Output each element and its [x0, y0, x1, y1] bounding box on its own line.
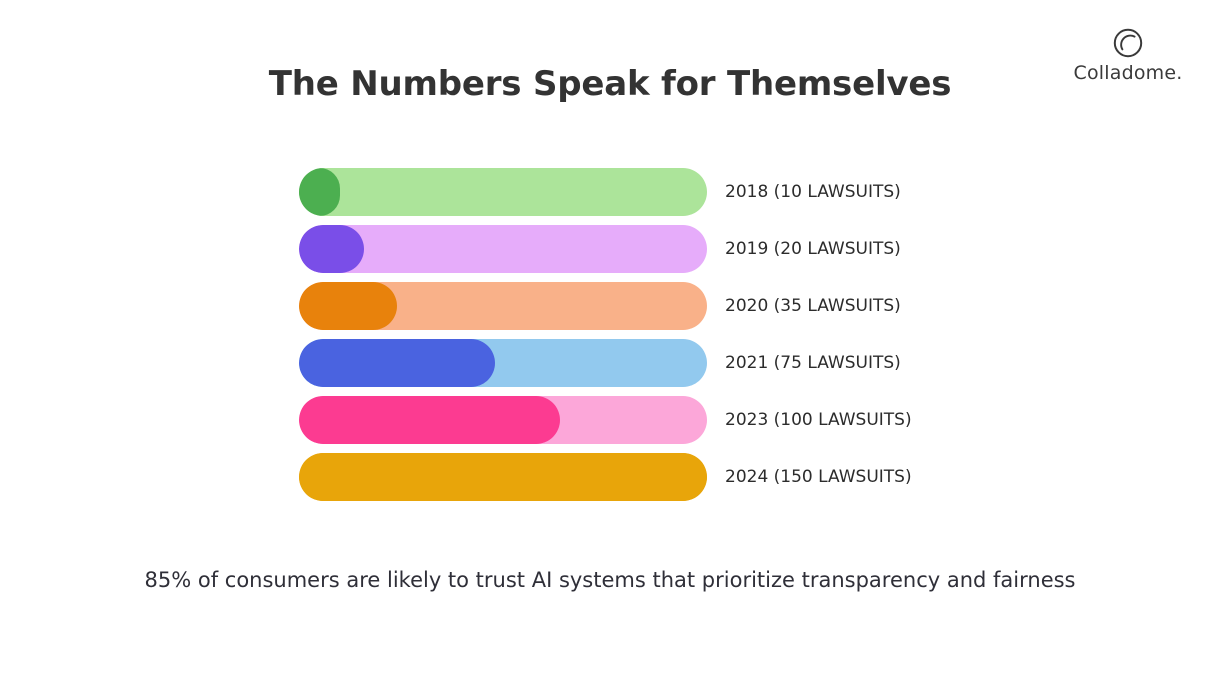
bar-track-2020 — [299, 282, 707, 330]
bar-label-2021: 2021 (75 LAWSUITS) — [725, 353, 901, 373]
chart-caption: 85% of consumers are likely to trust AI … — [0, 568, 1220, 592]
bar-track-2019 — [299, 225, 707, 273]
bar-track-2021 — [299, 339, 707, 387]
bar-label-2018: 2018 (10 LAWSUITS) — [725, 182, 901, 202]
bar-label-2019: 2019 (20 LAWSUITS) — [725, 239, 901, 259]
bar-track-2023 — [299, 396, 707, 444]
bar-fill-2023 — [299, 396, 560, 444]
bar-row: 2024 (150 LAWSUITS) — [299, 453, 959, 501]
bar-fill-2021 — [299, 339, 495, 387]
bar-fill-2019 — [299, 225, 364, 273]
page-title: The Numbers Speak for Themselves — [0, 64, 1220, 104]
bar-row: 2019 (20 LAWSUITS) — [299, 225, 959, 273]
bar-fill-2024 — [299, 453, 707, 501]
bar-label-2023: 2023 (100 LAWSUITS) — [725, 410, 912, 430]
bar-row: 2020 (35 LAWSUITS) — [299, 282, 959, 330]
bar-fill-2020 — [299, 282, 397, 330]
bar-row: 2018 (10 LAWSUITS) — [299, 168, 959, 216]
colladome-circle-icon — [1111, 26, 1145, 60]
bar-row: 2021 (75 LAWSUITS) — [299, 339, 959, 387]
bar-track-2024 — [299, 453, 707, 501]
bar-track-2018 — [299, 168, 707, 216]
bar-fill-2018 — [299, 168, 340, 216]
bar-row: 2023 (100 LAWSUITS) — [299, 396, 959, 444]
bar-label-2024: 2024 (150 LAWSUITS) — [725, 467, 912, 487]
bar-chart: 2018 (10 LAWSUITS) 2019 (20 LAWSUITS) 20… — [299, 168, 959, 510]
bar-label-2020: 2020 (35 LAWSUITS) — [725, 296, 901, 316]
